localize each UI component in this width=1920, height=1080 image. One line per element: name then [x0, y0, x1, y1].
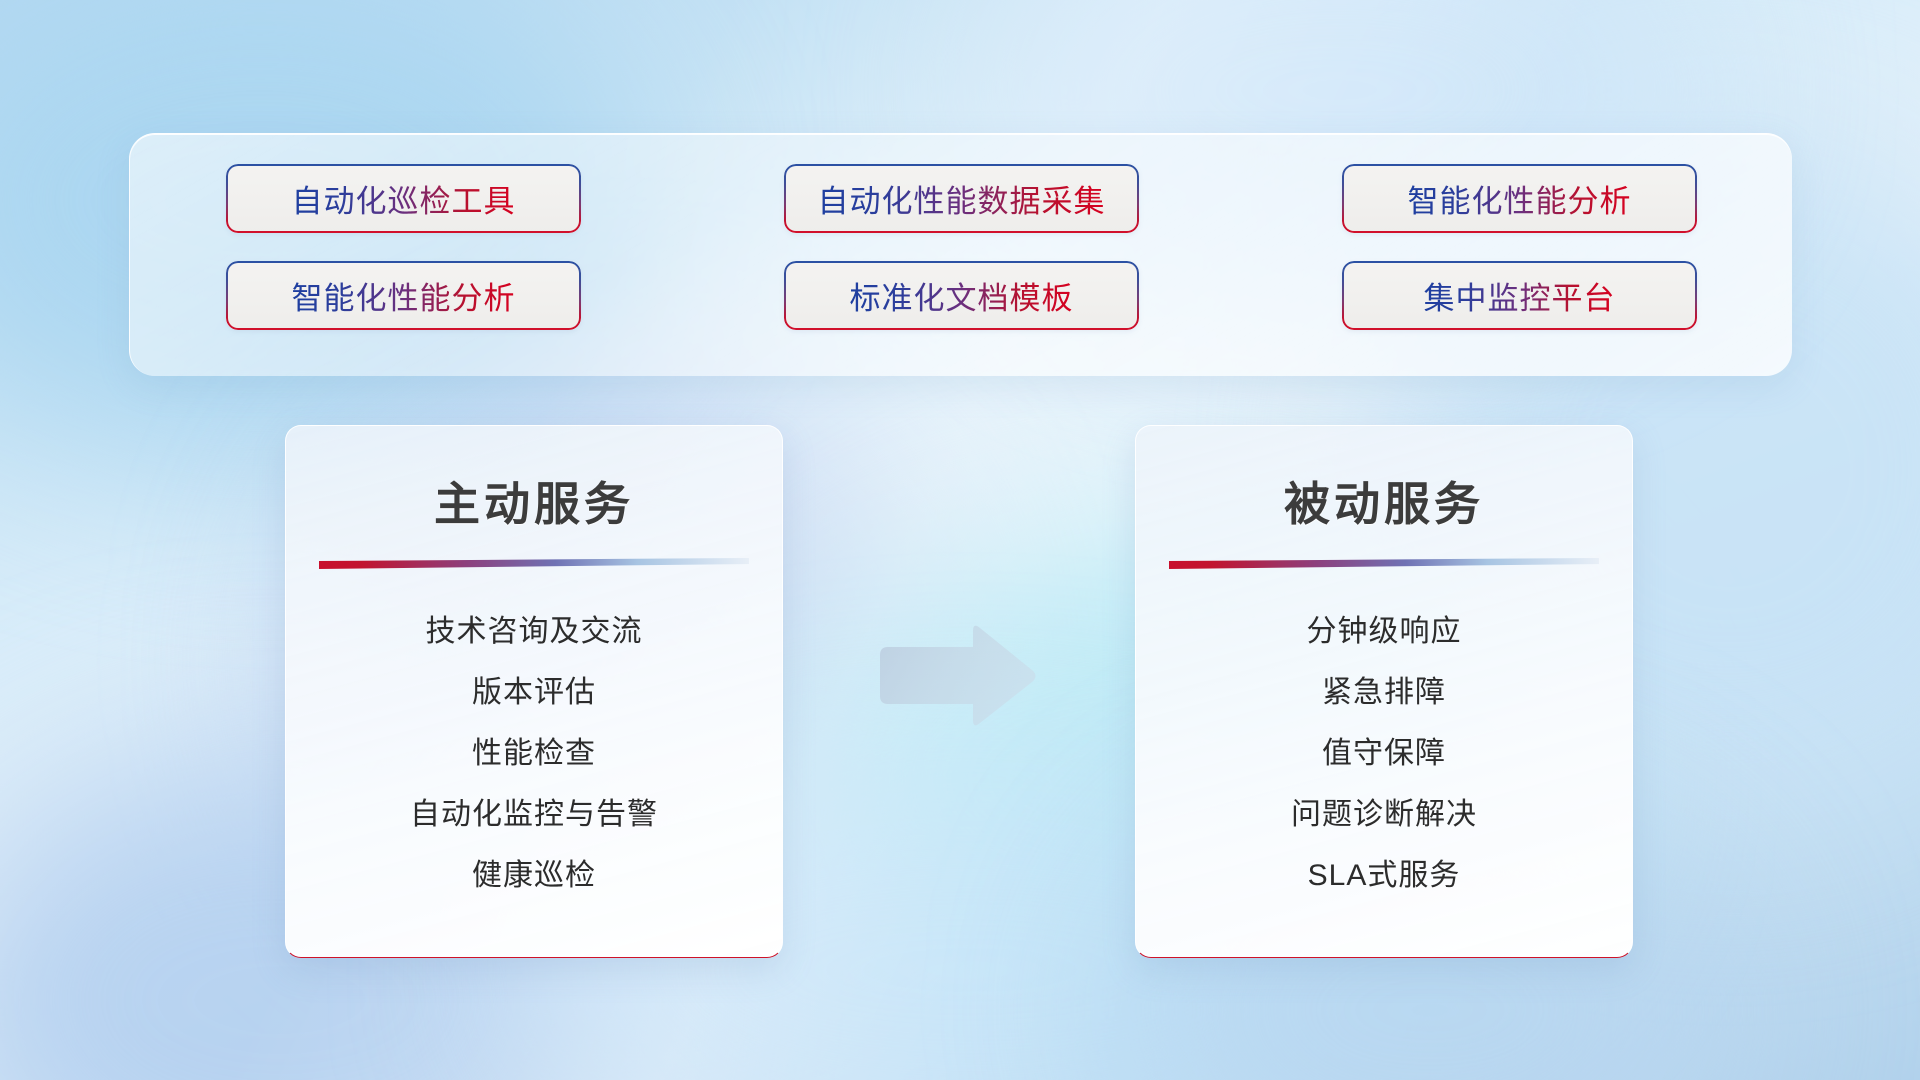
title-divider — [1169, 558, 1599, 569]
service-list-proactive: 技术咨询及交流 版本评估 性能检查 自动化监控与告警 健康巡检 — [286, 603, 782, 908]
service-list-item[interactable]: 性能检查 — [286, 725, 782, 786]
arrow-right-icon — [872, 620, 1042, 730]
service-list-item[interactable]: 分钟级响应 — [1136, 603, 1632, 664]
service-list-item[interactable]: 健康巡检 — [286, 847, 782, 908]
service-list-item[interactable]: 紧急排障 — [1136, 664, 1632, 725]
capability-chip-label: 智能化性能分析 — [1408, 176, 1632, 221]
service-list-reactive: 分钟级响应 紧急排障 值守保障 问题诊断解决 SLA式服务 — [1136, 603, 1632, 908]
capability-chip-grid: 自动化巡检工具 自动化性能数据采集 智能化性能分析 智能化性能分析 标准化文档模… — [226, 164, 1697, 330]
capability-chip-label: 标准化文档模板 — [850, 273, 1074, 318]
capability-chip-5[interactable]: 标准化文档模板 — [784, 261, 1139, 330]
capability-chip-3[interactable]: 智能化性能分析 — [1342, 164, 1697, 233]
card-title: 主动服务 — [286, 468, 782, 534]
capability-chip-2[interactable]: 自动化性能数据采集 — [784, 164, 1139, 233]
capability-chip-label: 自动化巡检工具 — [292, 176, 516, 221]
capability-chip-label: 自动化性能数据采集 — [818, 176, 1106, 221]
title-divider — [319, 558, 749, 569]
service-list-item[interactable]: 自动化监控与告警 — [286, 786, 782, 847]
capability-chip-label: 集中监控平台 — [1424, 273, 1616, 318]
capability-chip-1[interactable]: 自动化巡检工具 — [226, 164, 581, 233]
service-list-item[interactable]: 问题诊断解决 — [1136, 786, 1632, 847]
capability-chip-label: 智能化性能分析 — [292, 273, 516, 318]
service-list-item[interactable]: 版本评估 — [286, 664, 782, 725]
capability-chip-6[interactable]: 集中监控平台 — [1342, 261, 1697, 330]
card-title: 被动服务 — [1136, 468, 1632, 534]
service-list-item[interactable]: SLA式服务 — [1136, 847, 1632, 908]
capability-chip-4[interactable]: 智能化性能分析 — [226, 261, 581, 330]
capability-panel: 自动化巡检工具 自动化性能数据采集 智能化性能分析 智能化性能分析 标准化文档模… — [129, 133, 1792, 376]
service-card-reactive: 被动服务 分钟级响应 紧急排障 值守保障 — [1135, 425, 1633, 958]
service-card-proactive: 主动服务 技术咨询及交流 版本评估 性能检查 — [285, 425, 783, 958]
service-list-item[interactable]: 技术咨询及交流 — [286, 603, 782, 664]
service-list-item[interactable]: 值守保障 — [1136, 725, 1632, 786]
